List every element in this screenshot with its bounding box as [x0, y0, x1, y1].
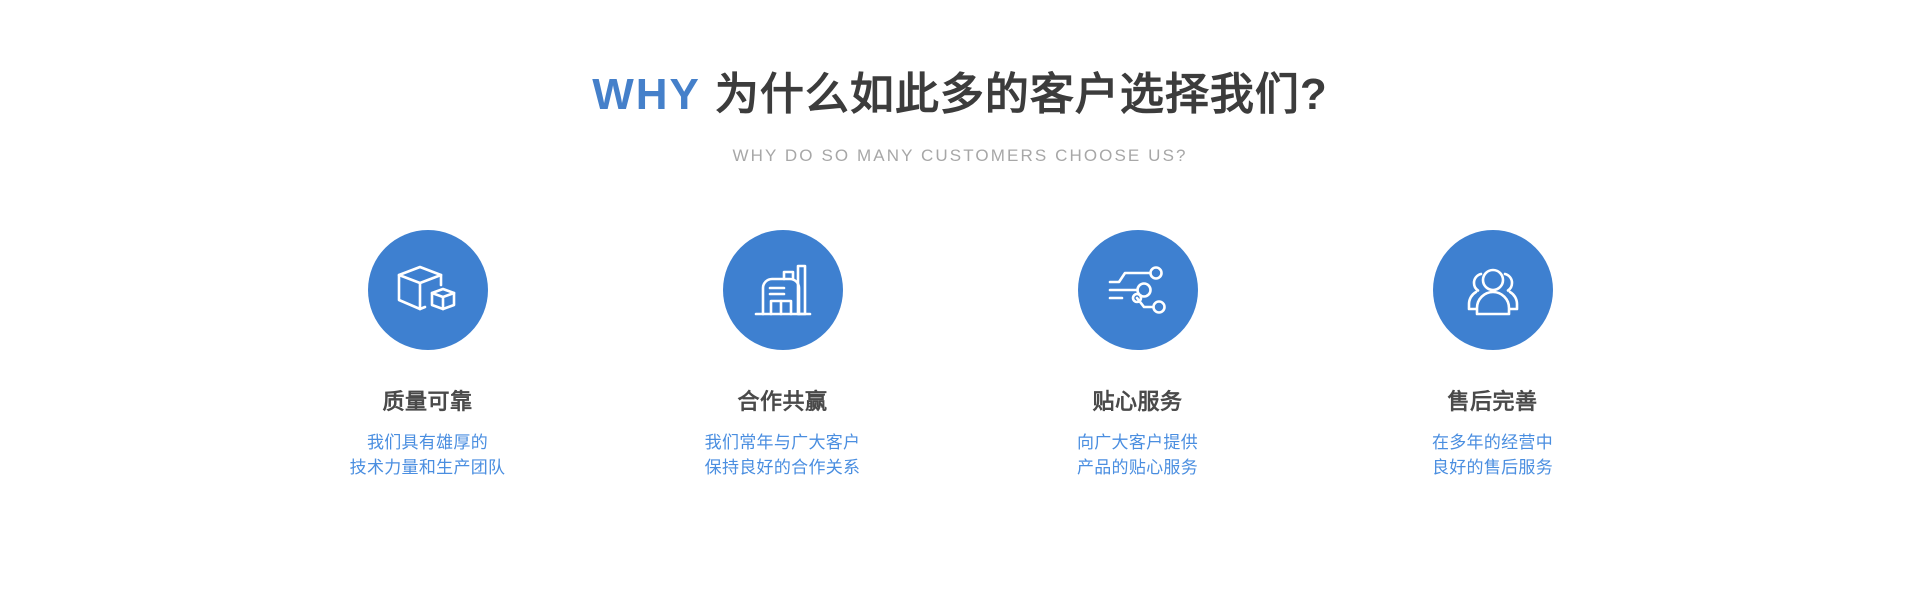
feature-description: 我们常年与广大客户 保持良好的合作关系: [705, 430, 861, 480]
feature-description: 在多年的经营中 良好的售后服务: [1432, 430, 1553, 480]
heading-why-word: WHY: [592, 70, 701, 119]
feature-item-cooperation[interactable]: 合作共赢 我们常年与广大客户 保持良好的合作关系: [660, 230, 905, 480]
feature-title: 合作共赢: [737, 388, 827, 416]
factory-icon: [751, 258, 815, 322]
feature-item-quality[interactable]: 质量可靠 我们具有雄厚的 技术力量和生产团队: [305, 230, 550, 480]
feature-item-service[interactable]: 贴心服务 向广大客户提供 产品的贴心服务: [1015, 230, 1260, 480]
why-choose-us-section: WHY为什么如此多的客户选择我们? WHY DO SO MANY CUSTOME…: [0, 0, 1920, 615]
icon-circle-aftersales: [1433, 230, 1553, 350]
feature-title: 质量可靠: [382, 388, 472, 416]
icon-circle-quality: [368, 230, 488, 350]
heading-chinese-title: 为什么如此多的客户选择我们?: [715, 70, 1328, 119]
circuit-network-icon: [1106, 258, 1170, 322]
feature-title: 贴心服务: [1092, 388, 1182, 416]
feature-list: 质量可靠 我们具有雄厚的 技术力量和生产团队: [305, 230, 1615, 480]
feature-title: 售后完善: [1447, 388, 1537, 416]
users-group-icon: [1461, 258, 1525, 322]
icon-circle-service: [1078, 230, 1198, 350]
package-box-icon: [396, 258, 460, 322]
icon-circle-cooperation: [723, 230, 843, 350]
feature-description: 我们具有雄厚的 技术力量和生产团队: [350, 430, 506, 480]
feature-description: 向广大客户提供 产品的贴心服务: [1077, 430, 1198, 480]
feature-item-aftersales[interactable]: 售后完善 在多年的经营中 良好的售后服务: [1370, 230, 1615, 480]
page-subtitle: WHY DO SO MANY CUSTOMERS CHOOSE US?: [0, 144, 1920, 168]
heading-block: WHY为什么如此多的客户选择我们? WHY DO SO MANY CUSTOME…: [0, 66, 1920, 168]
page-title: WHY为什么如此多的客户选择我们?: [0, 66, 1920, 124]
